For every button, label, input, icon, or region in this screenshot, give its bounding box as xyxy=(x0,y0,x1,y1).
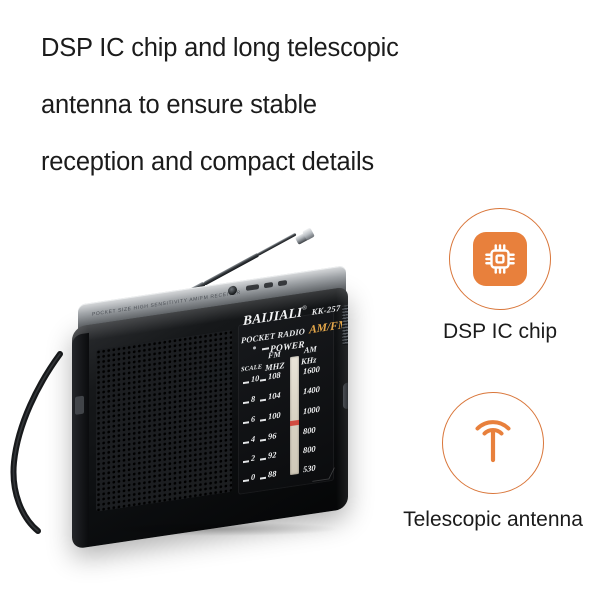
dial-fm-value: 88 xyxy=(268,469,276,479)
strap-lug xyxy=(75,396,84,415)
feature-ring xyxy=(449,208,551,310)
antenna-signal-icon xyxy=(464,412,522,475)
trademark-symbol: ® xyxy=(302,305,306,312)
model-number: KK-257 xyxy=(312,303,341,317)
dial-scale-value: 8 xyxy=(251,394,255,404)
dial-am-value: 1000 xyxy=(303,405,320,416)
dial-am-value: 800 xyxy=(303,444,316,455)
dial-fm-value: 100 xyxy=(268,411,281,422)
product-photo: POCKET SIZE HIGH SENSITIVITY AM/FM RECEI… xyxy=(0,185,410,575)
dial-fm-value: 108 xyxy=(268,371,281,382)
dial-scale-value: 10 xyxy=(251,374,259,384)
dial-tick-right xyxy=(260,477,266,479)
dial-scale-value: 4 xyxy=(251,434,255,444)
dial-tick-left xyxy=(243,381,249,383)
product-shadow xyxy=(96,522,340,536)
front-label-plate: BAIJIALI®KK-257 POCKET RADIOAM/FM POWER … xyxy=(238,311,334,495)
top-switch-3[interactable] xyxy=(278,280,287,286)
top-switch-1[interactable] xyxy=(246,284,259,291)
dial-fm-value: 96 xyxy=(268,431,276,441)
dial-fm-value: 104 xyxy=(268,391,281,402)
dial-tick-left xyxy=(243,421,249,423)
tuning-wheel[interactable] xyxy=(342,304,348,346)
dial-tick-right xyxy=(260,399,266,401)
antenna-segment-upper xyxy=(257,233,296,256)
dial-am-value: 1400 xyxy=(303,385,320,396)
feature-label: Telescopic antenna xyxy=(398,508,588,532)
radio-left-side-panel xyxy=(72,333,89,542)
power-dash-mark xyxy=(262,347,269,350)
headline-line-3: reception and compact details xyxy=(41,134,571,191)
radio-case: BAIJIALI®KK-257 POCKET RADIOAM/FM POWER … xyxy=(72,287,348,550)
dial-scale-value: 2 xyxy=(251,453,255,463)
feature-callout-dsp-chip: DSP IC chip xyxy=(405,208,595,344)
speaker-grille xyxy=(96,330,232,512)
dial-tick-right xyxy=(260,458,266,460)
top-switch-2[interactable] xyxy=(264,282,273,288)
dial-am-value: 800 xyxy=(303,425,316,436)
feature-label: DSP IC chip xyxy=(405,320,595,344)
dial-tick-right xyxy=(260,379,266,381)
column-header-scale: SCALE xyxy=(241,363,262,373)
volume-knob[interactable] xyxy=(343,382,348,409)
dial-band-am-label: AM xyxy=(304,344,317,355)
wrist-strap xyxy=(8,350,80,535)
feature-ring xyxy=(442,392,544,494)
dial-tick-left xyxy=(243,460,249,462)
headline-block: DSP IC chip and long telescopic antenna … xyxy=(41,20,571,191)
headline-line-1: DSP IC chip and long telescopic xyxy=(41,20,571,77)
dial-tick-left xyxy=(243,479,249,481)
dial-scale-value: 0 xyxy=(251,472,255,482)
dial-tick-right xyxy=(260,419,266,421)
feature-callout-antenna: Telescopic antenna xyxy=(398,392,588,532)
dial-scale-value: 6 xyxy=(251,414,255,424)
dial-tick-left xyxy=(243,401,249,403)
dial-am-value: 1600 xyxy=(303,365,320,376)
pocket-radio-body: POCKET SIZE HIGH SENSITIVITY AM/FM RECEI… xyxy=(72,307,348,529)
dial-tick-left xyxy=(243,441,249,443)
dial-am-value: 530 xyxy=(303,463,316,474)
dial-fm-value: 92 xyxy=(268,450,276,460)
headline-line-2: antenna to ensure stable xyxy=(41,77,571,134)
dial-tick-right xyxy=(260,439,266,441)
power-indicator-dot xyxy=(253,346,256,349)
cpu-chip-icon xyxy=(473,232,527,286)
dial-band-fm-label: FM xyxy=(268,350,281,361)
